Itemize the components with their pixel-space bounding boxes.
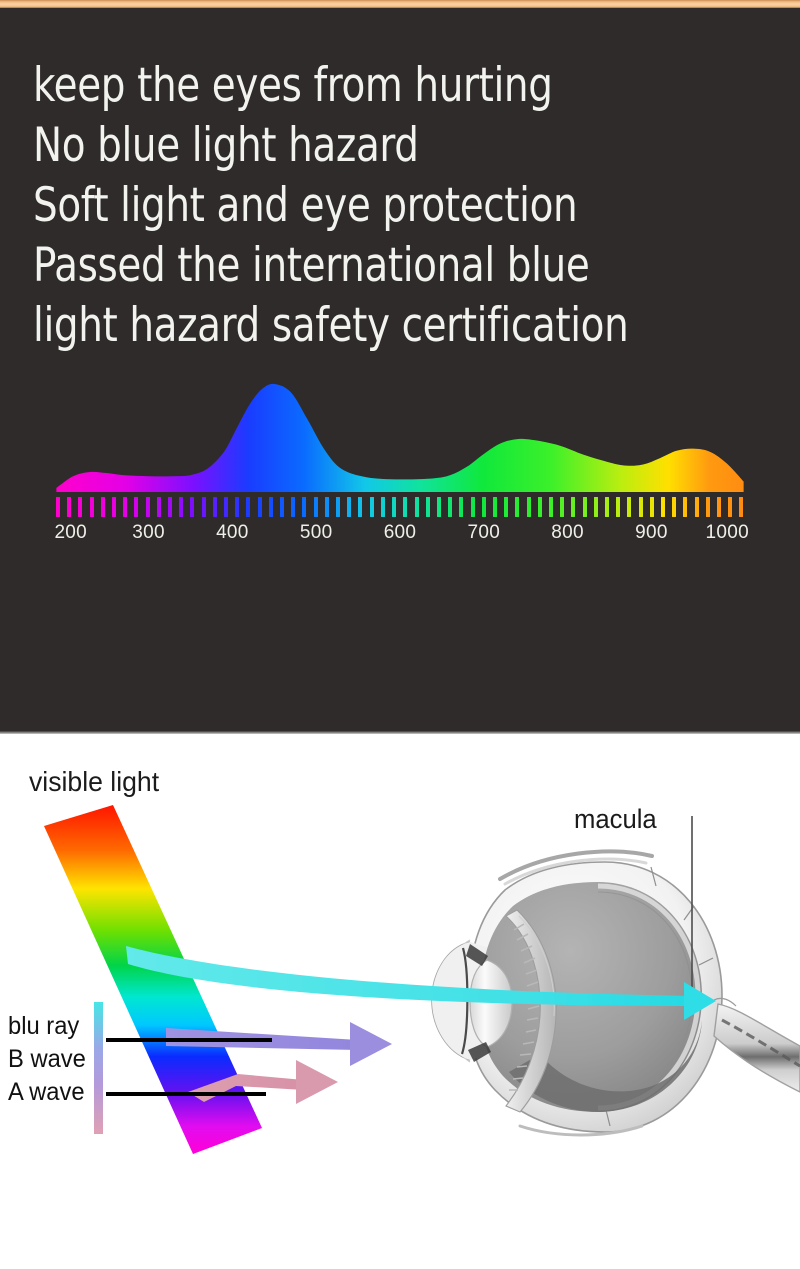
spectrum-tick xyxy=(370,497,374,517)
eye-diagram-svg xyxy=(0,734,800,1269)
spectrum-tick xyxy=(448,497,452,517)
spectrum-tick xyxy=(336,497,340,517)
spectrum-tick xyxy=(594,497,598,517)
spectrum-tick xyxy=(426,497,430,517)
spectrum-tick xyxy=(695,497,699,517)
spectrum-tick xyxy=(78,497,82,517)
spectrum-tick xyxy=(639,497,643,517)
spectrum-tick xyxy=(213,497,217,517)
spectrum-tick xyxy=(661,497,665,517)
spectrum-tick xyxy=(538,497,542,517)
spectrum-tick xyxy=(280,497,284,517)
spectrum-tick xyxy=(672,497,676,517)
spectrum-tick xyxy=(202,497,206,517)
spectrum-tick xyxy=(302,497,306,517)
visible-light-label: visible light xyxy=(29,767,159,797)
spectrum-chart: 2003004005006007008009001000 xyxy=(48,380,752,545)
spectrum-tick xyxy=(90,497,94,517)
spectrum-tick xyxy=(101,497,105,517)
spectrum-tick xyxy=(739,497,743,517)
spectrum-tick xyxy=(571,497,575,517)
spectrum-tick xyxy=(471,497,475,517)
wave-label-blu-ray: blu ray xyxy=(8,1010,86,1043)
spectrum-tick xyxy=(403,497,407,517)
spectrum-tick xyxy=(493,497,497,517)
spectrum-tick xyxy=(291,497,295,517)
spectrum-tick xyxy=(437,497,441,517)
spectrum-tick xyxy=(112,497,116,517)
spectrum-tick xyxy=(56,497,60,517)
axis-tick-label: 200 xyxy=(54,522,87,544)
spectrum-tick xyxy=(190,497,194,517)
axis-tick-label: 800 xyxy=(551,522,584,544)
axis-tick-label: 600 xyxy=(384,522,417,544)
spectrum-tick xyxy=(123,497,127,517)
spectrum-tick xyxy=(358,497,362,517)
spectrum-tick-strip xyxy=(56,497,744,517)
spectrum-tick xyxy=(246,497,250,517)
axis-tick-label: 300 xyxy=(132,522,165,544)
spectrum-tick xyxy=(67,497,71,517)
spectrum-tick xyxy=(459,497,463,517)
headline-line-4: Passed the international blue xyxy=(33,236,705,296)
hero-panel: keep the eyes from hurting No blue light… xyxy=(0,8,800,734)
spectrum-tick xyxy=(616,497,620,517)
spectrum-axis-labels: 2003004005006007008009001000 xyxy=(48,522,752,546)
optic-nerve xyxy=(714,1004,800,1092)
axis-tick-label: 900 xyxy=(635,522,668,544)
spectrum-tick xyxy=(627,497,631,517)
spectrum-tick xyxy=(728,497,732,517)
spectrum-tick xyxy=(605,497,609,517)
spectrum-tick xyxy=(527,497,531,517)
spectrum-tick xyxy=(706,497,710,517)
spectrum-tick xyxy=(650,497,654,517)
headline-line-3: Soft light and eye protection xyxy=(33,176,705,236)
spectrum-tick xyxy=(504,497,508,517)
spectrum-tick xyxy=(146,497,150,517)
headline-line-2: No blue light hazard xyxy=(33,116,705,176)
macula-label: macula xyxy=(574,804,657,834)
wave-spectrum-bar xyxy=(94,1002,103,1134)
spectrum-tick xyxy=(269,497,273,517)
spectrum-tick xyxy=(314,497,318,517)
spectrum-tick xyxy=(235,497,239,517)
spectrum-tick xyxy=(179,497,183,517)
axis-tick-label: 500 xyxy=(300,522,333,544)
spectrum-tick xyxy=(515,497,519,517)
spectrum-tick xyxy=(392,497,396,517)
spectrum-tick xyxy=(549,497,553,517)
spectrum-tick xyxy=(325,497,329,517)
axis-tick-label: 1000 xyxy=(706,522,749,544)
wave-label-group: blu ray B wave A wave xyxy=(8,1010,86,1109)
spectrum-curve xyxy=(48,380,752,492)
headline-line-1: keep the eyes from hurting xyxy=(33,56,705,116)
spectrum-tick xyxy=(717,497,721,517)
axis-tick-label: 700 xyxy=(467,522,500,544)
eye-diagram-panel: visible light macula blu ray B wave A wa… xyxy=(0,734,800,1269)
spectrum-tick xyxy=(482,497,486,517)
spectrum-curve-svg xyxy=(48,380,752,492)
wave-label-a-wave: A wave xyxy=(8,1076,86,1109)
spectrum-tick xyxy=(683,497,687,517)
axis-tick-label: 400 xyxy=(216,522,249,544)
spectrum-tick xyxy=(134,497,138,517)
spectrum-tick xyxy=(415,497,419,517)
wave-label-b-wave: B wave xyxy=(8,1043,86,1076)
spectrum-tick xyxy=(224,497,228,517)
spectrum-tick xyxy=(583,497,587,517)
spectrum-tick xyxy=(157,497,161,517)
spectrum-tick xyxy=(258,497,262,517)
spectrum-tick xyxy=(347,497,351,517)
headline-block: keep the eyes from hurting No blue light… xyxy=(33,56,705,356)
spectrum-tick xyxy=(381,497,385,517)
spectrum-tick xyxy=(560,497,564,517)
headline-line-5: light hazard safety certification xyxy=(33,296,705,356)
spectrum-tick xyxy=(168,497,172,517)
page-root: keep the eyes from hurting No blue light… xyxy=(0,0,800,1269)
